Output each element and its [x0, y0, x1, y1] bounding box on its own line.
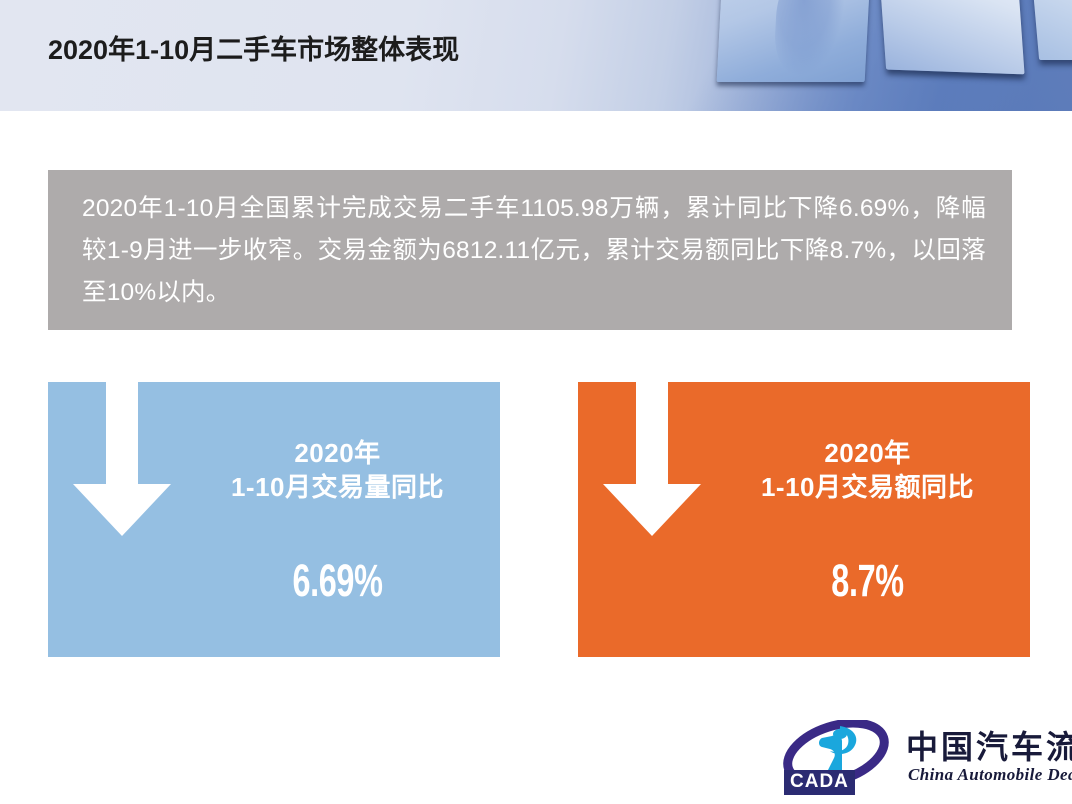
down-arrow-icon	[73, 382, 183, 538]
down-arrow-icon	[603, 382, 713, 538]
header-decorative-cubes-image	[642, 0, 1072, 111]
slide-root: 2020年1-10月二手车市场整体表现 2020年1-10月全国累计完成交易二手…	[0, 0, 1072, 804]
stat-card-heading: 2020年 1-10月交易额同比	[713, 436, 1022, 504]
stat-card-transaction-volume[interactable]: 2020年 1-10月交易量同比 6.69%	[48, 382, 500, 657]
stat-card-transaction-amount[interactable]: 2020年 1-10月交易额同比 8.7%	[578, 382, 1030, 657]
stat-card-value: 6.69%	[226, 556, 448, 606]
summary-box: 2020年1-10月全国累计完成交易二手车1105.98万辆，累计同比下降6.6…	[48, 170, 1012, 330]
cube-icon-left	[717, 0, 872, 82]
stat-card-heading-line1: 2020年	[713, 436, 1022, 470]
stat-card-heading: 2020年 1-10月交易量同比	[183, 436, 492, 504]
stat-card-heading-line1: 2020年	[183, 436, 492, 470]
stat-card-heading-line2: 1-10月交易量同比	[183, 470, 492, 504]
stat-card-value: 8.7%	[756, 556, 978, 606]
logo-name-en: China Automobile Dealers Association	[908, 765, 1072, 785]
page-title: 2020年1-10月二手车市场整体表现	[48, 28, 459, 67]
summary-text: 2020年1-10月全国累计完成交易二手车1105.98万辆，累计同比下降6.6…	[82, 188, 986, 314]
stat-card-heading-line2: 1-10月交易额同比	[713, 470, 1022, 504]
cube-icon-center	[877, 0, 1024, 74]
cada-logo: CADA 中国汽车流通协会 China Automobile Dealers A…	[778, 718, 1068, 794]
logo-name-cn: 中国汽车流通协会	[906, 722, 1072, 768]
cada-abbr-badge: CADA	[784, 770, 855, 795]
